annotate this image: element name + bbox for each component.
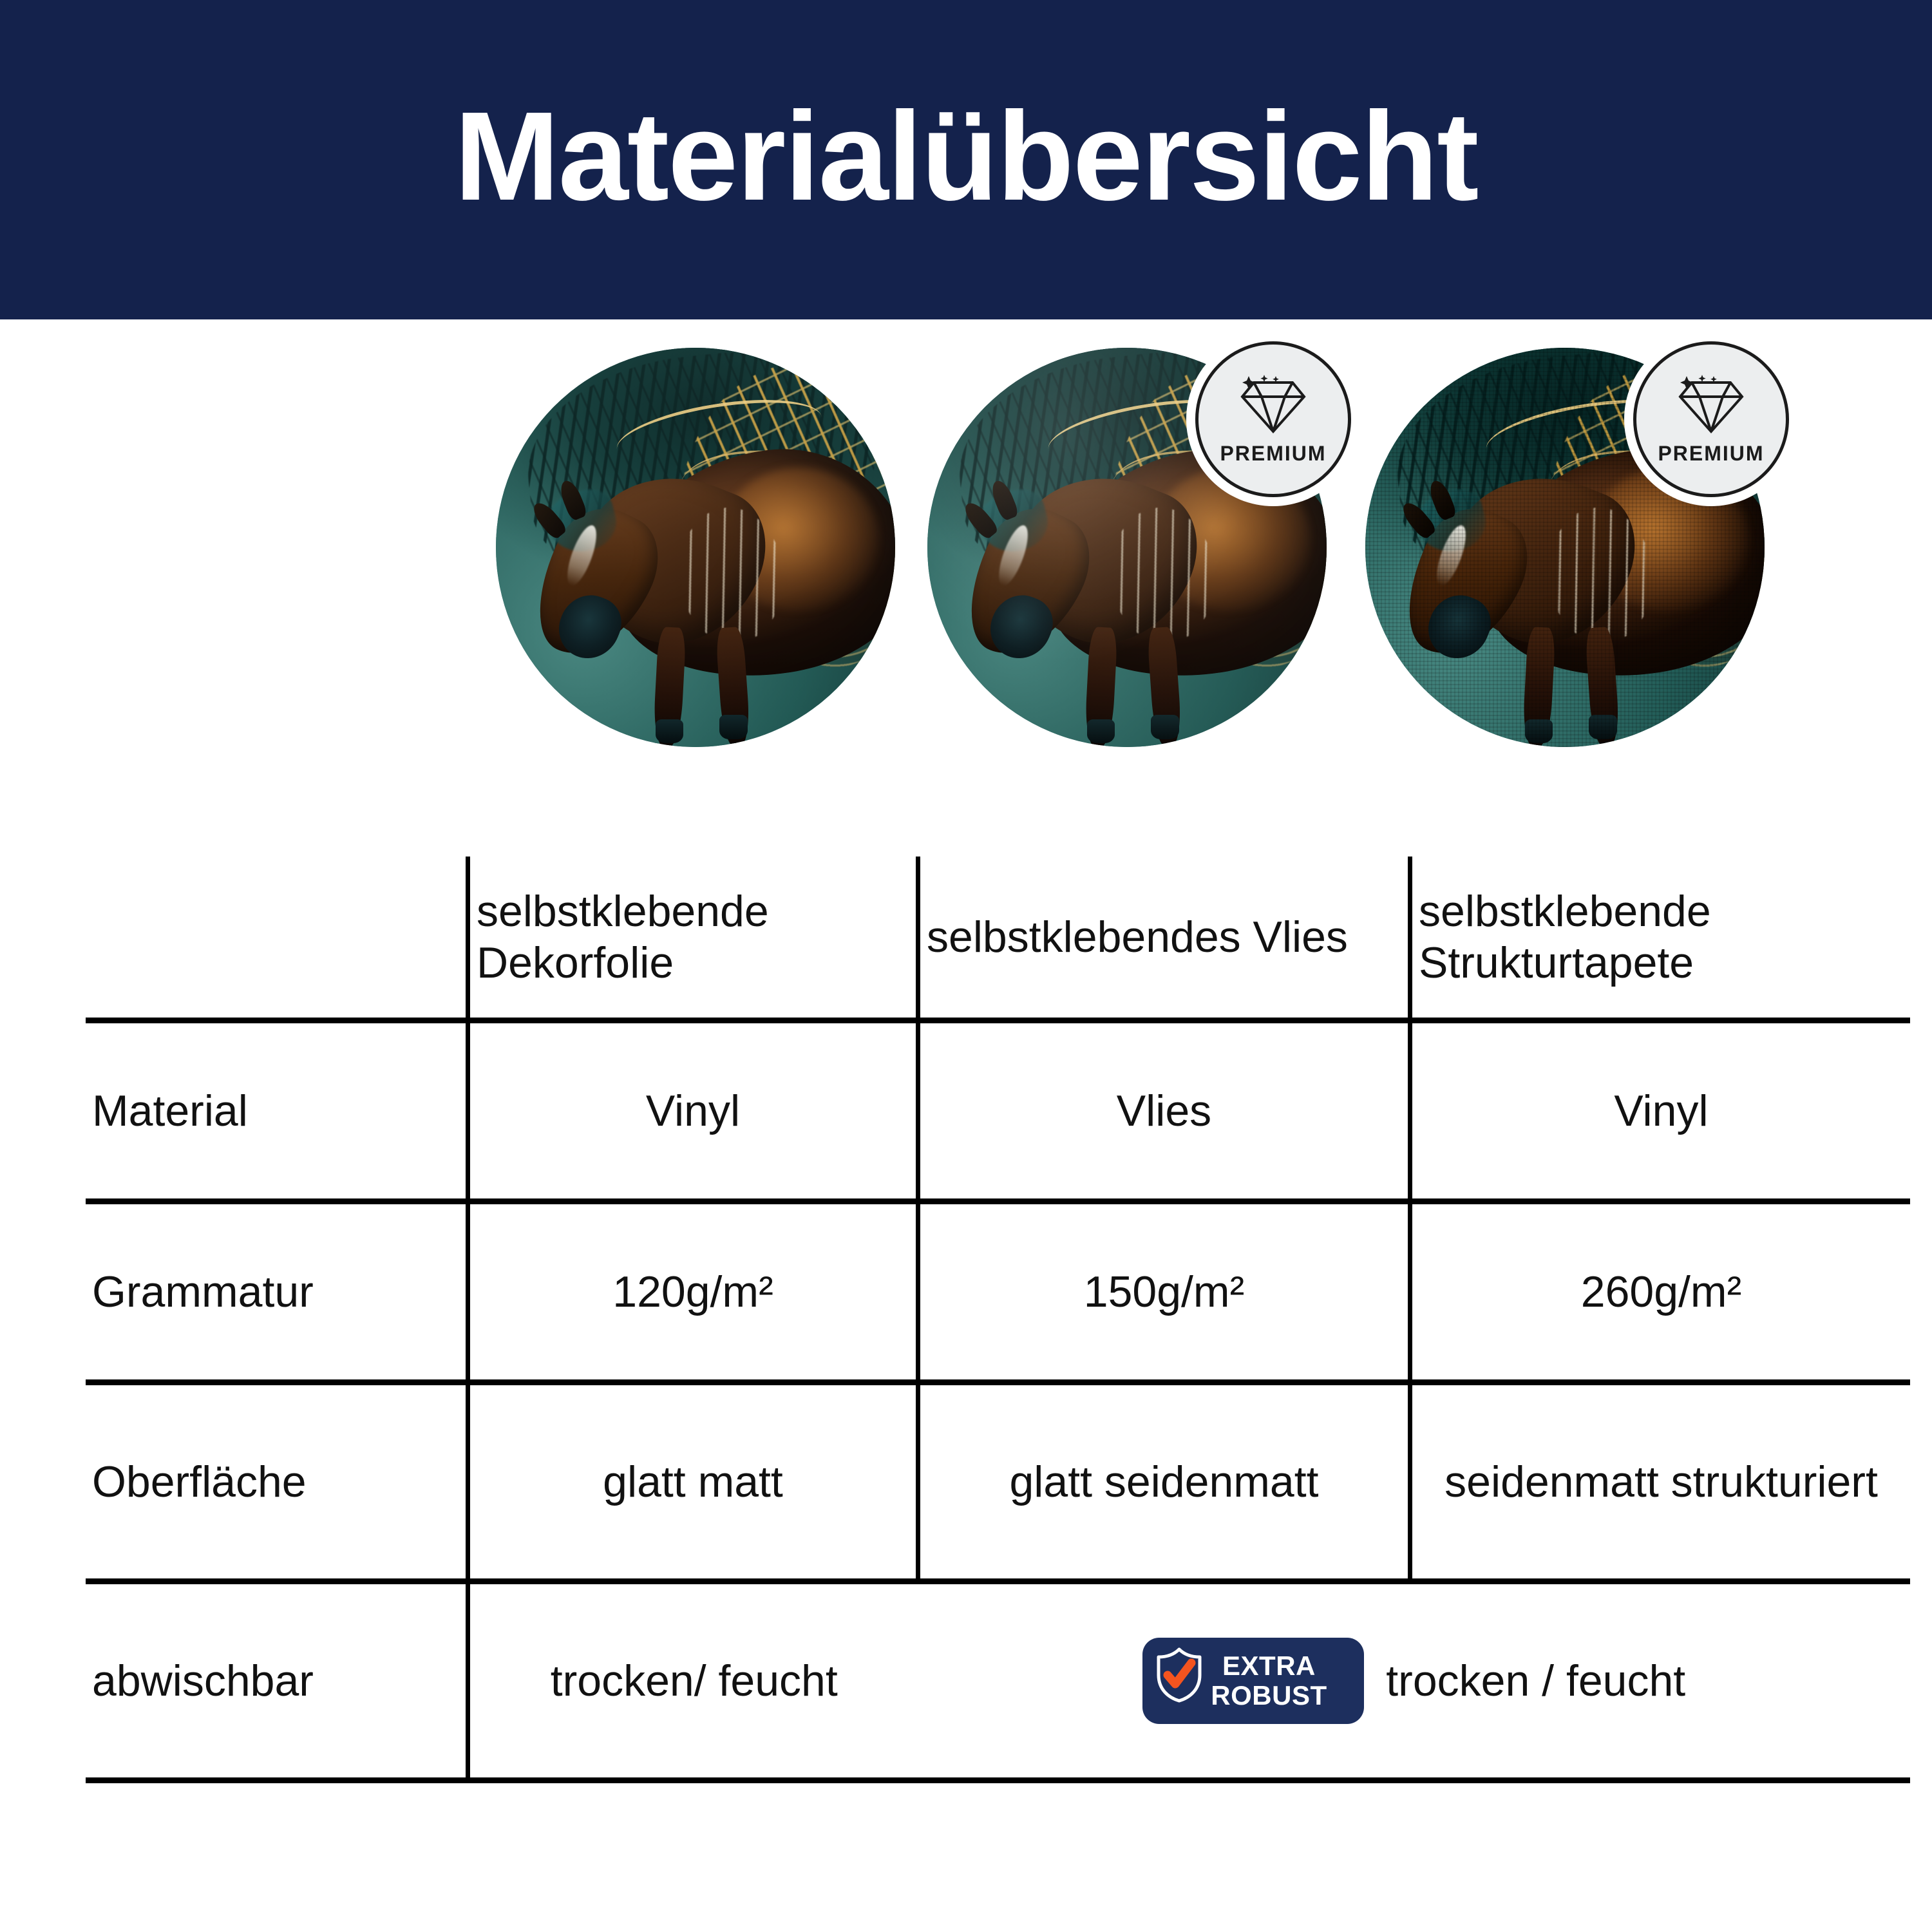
cell-grammatur-vlies: 150g/m² xyxy=(918,1202,1410,1383)
page-header: Materialübersicht xyxy=(0,0,1932,319)
diamond-icon xyxy=(1237,375,1309,437)
cell-grammatur-dekorfolie: 120g/m² xyxy=(468,1202,918,1383)
row-label-abwischbar: abwischbar xyxy=(86,1582,468,1781)
table-header-row: selbstklebende Dekorfolie selbstklebende… xyxy=(86,857,1910,1021)
cell-abwischbar-merged: EXTRA ROBUST trocken / feucht xyxy=(918,1582,1911,1781)
cell-oberflaeche-dekorfolie: glatt matt xyxy=(468,1383,918,1582)
cell-abwischbar-dekorfolie: trocken/ feucht xyxy=(468,1582,918,1781)
premium-badge: PREMIUM xyxy=(1195,341,1351,497)
cell-abwischbar-merged-text: trocken / feucht xyxy=(1386,1655,1685,1707)
extra-robust-line2: ROBUST xyxy=(1211,1682,1327,1709)
row-label-oberflaeche: Oberfläche xyxy=(86,1383,468,1582)
product-swatch-dekorfolie[interactable] xyxy=(496,348,908,760)
finish-overlay-matte xyxy=(496,348,895,747)
table-header-corner xyxy=(86,857,468,1021)
swatch-image-dekorfolie xyxy=(496,348,895,747)
table-row-abwischbar: abwischbar trocken/ feucht EXTRA ROB xyxy=(86,1582,1910,1781)
premium-badge-label: PREMIUM xyxy=(1658,443,1764,464)
page-title: Materialübersicht xyxy=(455,93,1478,220)
table-header-dekorfolie: selbstklebende Dekorfolie xyxy=(468,857,918,1021)
row-label-material: Material xyxy=(86,1021,468,1202)
product-swatch-strukturtapete[interactable]: PREMIUM xyxy=(1365,348,1777,760)
cell-oberflaeche-vlies: glatt seidenmatt xyxy=(918,1383,1410,1582)
cell-material-vlies: Vlies xyxy=(918,1021,1410,1202)
cell-material-strukturtapete: Vinyl xyxy=(1410,1021,1911,1202)
product-swatch-vlies[interactable]: PREMIUM xyxy=(927,348,1340,760)
extra-robust-badge: EXTRA ROBUST xyxy=(1142,1638,1364,1723)
extra-robust-line1: EXTRA xyxy=(1211,1653,1327,1680)
cell-grammatur-strukturtapete: 260g/m² xyxy=(1410,1202,1911,1383)
product-swatch-row: PREMIUM xyxy=(0,348,1932,773)
diamond-icon xyxy=(1675,375,1747,437)
cell-oberflaeche-strukturtapete: seidenmatt strukturiert xyxy=(1410,1383,1911,1582)
shield-check-icon xyxy=(1154,1647,1204,1714)
table-row-grammatur: Grammatur 120g/m² 150g/m² 260g/m² xyxy=(86,1202,1910,1383)
premium-badge-label: PREMIUM xyxy=(1220,443,1326,464)
premium-badge: PREMIUM xyxy=(1633,341,1789,497)
material-comparison-table: selbstklebende Dekorfolie selbstklebende… xyxy=(86,857,1910,1783)
table-header-vlies: selbstklebendes Vlies xyxy=(918,857,1410,1021)
table-row-oberflaeche: Oberfläche glatt matt glatt seidenmatt s… xyxy=(86,1383,1910,1582)
cell-material-dekorfolie: Vinyl xyxy=(468,1021,918,1202)
table-header-strukturtapete: selbstklebende Strukturtapete xyxy=(1410,857,1911,1021)
row-label-grammatur: Grammatur xyxy=(86,1202,468,1383)
table-row-material: Material Vinyl Vlies Vinyl xyxy=(86,1021,1910,1202)
